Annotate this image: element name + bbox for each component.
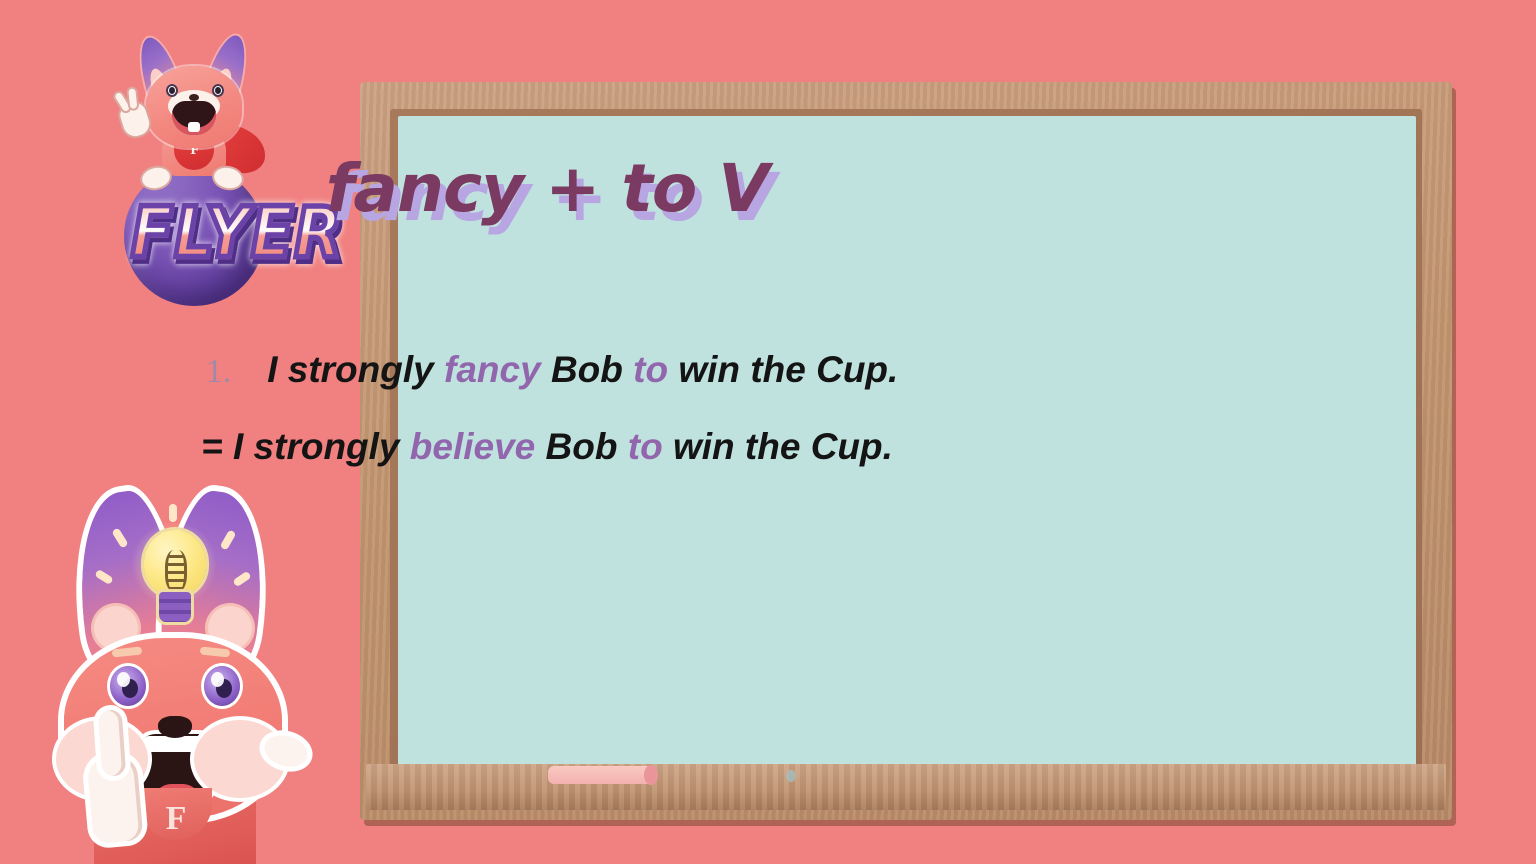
sentence-text: = I strongly bbox=[201, 426, 410, 467]
logo-bunny-eye-left-icon bbox=[166, 84, 178, 97]
logo-bunny-tooth-icon bbox=[188, 122, 200, 132]
logo-bunny-eye-right-icon bbox=[212, 84, 224, 97]
flyer-squirrel-mascot: F bbox=[28, 488, 318, 858]
mascot-eye-right-icon bbox=[204, 666, 240, 706]
sentence-line-1: 1.I strongly fancy Bob to win the Cup. bbox=[38, 350, 1056, 391]
mascot-eye-left-icon bbox=[110, 666, 146, 706]
whiteboard-marker-dot-icon bbox=[786, 770, 796, 782]
sentence-keyword: fancy bbox=[444, 349, 541, 390]
sentence-keyword: to bbox=[628, 426, 663, 467]
lesson-sentences: 1.I strongly fancy Bob to win the Cup. =… bbox=[38, 350, 1056, 467]
sentence-keyword: believe bbox=[410, 426, 535, 467]
sentence-line-2: = I strongly believe Bob to win the Cup. bbox=[38, 427, 1056, 468]
mascot-bulb-base-icon bbox=[159, 592, 191, 622]
sentence-text: I strongly bbox=[267, 349, 444, 390]
sentence-number: 1. bbox=[206, 353, 232, 390]
logo-bunny-nose-icon bbox=[189, 94, 199, 101]
sentence-text: Bob bbox=[541, 349, 633, 390]
lesson-title: fancy + to V bbox=[38, 150, 1056, 227]
whiteboard-eraser-tip-icon bbox=[644, 765, 658, 785]
sentence-text: Bob bbox=[535, 426, 627, 467]
slide-canvas: F FLYER bbox=[0, 0, 1536, 864]
sentence-keyword: to bbox=[633, 349, 668, 390]
whiteboard-ledge bbox=[366, 764, 1446, 810]
mascot-light-ray-icon bbox=[169, 504, 177, 522]
mascot-pointing-finger-icon bbox=[98, 709, 127, 777]
mascot-hoodie-letter: F bbox=[156, 798, 196, 840]
sentence-text: win the Cup. bbox=[668, 349, 898, 390]
whiteboard-eraser-icon[interactable] bbox=[548, 766, 656, 784]
mascot-nose-icon bbox=[158, 716, 192, 738]
sentence-text: win the Cup. bbox=[663, 426, 893, 467]
mascot-bulb-filament-icon bbox=[165, 550, 187, 592]
